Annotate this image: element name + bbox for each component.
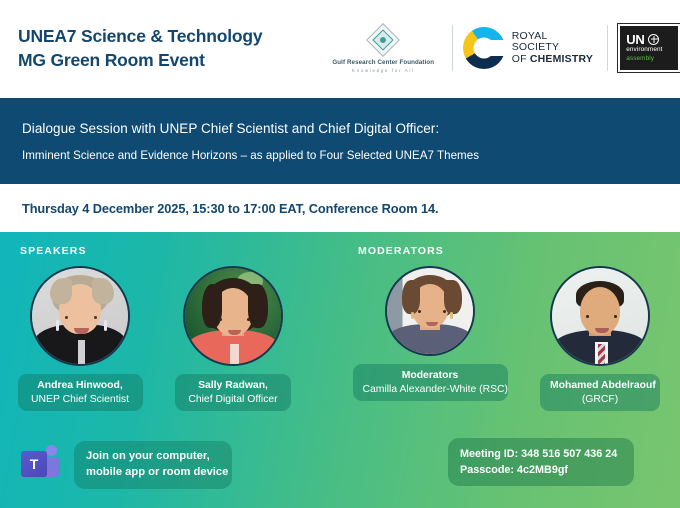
rsc-logo-wordmark: ROYAL SOCIETY OF CHEMISTRY [512, 31, 598, 65]
join-instructions-chip: Join on your computer, mobile app or roo… [74, 441, 232, 489]
un-environment-assembly-logo: UN environment assembly [618, 24, 680, 72]
person-name-chip: Sally Radwan, Chief Digital Officer [175, 374, 291, 411]
gulf-research-center-logo: Gulf Research Center Foundation Knowledg… [325, 23, 442, 73]
rsc-c-mark-icon [463, 27, 505, 69]
diamond-emblem-icon [366, 23, 400, 57]
person-card: Sally Radwan, Chief Digital Officer [158, 266, 308, 411]
rsc-line-2-light: OF [512, 53, 530, 65]
person-name: Andrea Hinwood, [28, 379, 133, 393]
rsc-line-2: OF CHEMISTRY [512, 54, 598, 65]
avatar [385, 266, 475, 356]
title-line-1: UNEA7 Science & Technology [18, 24, 317, 48]
logo-divider-1 [452, 25, 453, 71]
speakers-section-label: SPEAKERS [20, 245, 87, 257]
person-card: Andrea Hinwood, UNEP Chief Scientist [5, 266, 155, 411]
session-title: Dialogue Session with UNEP Chief Scienti… [22, 121, 658, 136]
person-role: Chief Digital Officer [185, 393, 281, 407]
grc-logo-name: Gulf Research Center Foundation [332, 59, 434, 66]
join-line-1: Join on your computer, [86, 449, 220, 465]
person-name-chip: Mohamed Abdelraouf (GRCF) [540, 374, 660, 411]
person-name-chip: Moderators Camilla Alexander-White (RSC) [353, 364, 508, 401]
meeting-passcode: Passcode: 4c2MB9gf [460, 462, 622, 478]
teams-letter: T [30, 457, 39, 471]
person-role: (GRCF) [550, 393, 650, 407]
person-name: Sally Radwan, [185, 379, 281, 393]
avatar [30, 266, 130, 366]
person-role: UNEP Chief Scientist [28, 393, 133, 407]
logo-strip: Gulf Research Center Foundation Knowledg… [325, 23, 680, 73]
person-name: Moderators [363, 369, 498, 383]
rsc-line-1: ROYAL SOCIETY [512, 31, 598, 54]
person-name-chip: Andrea Hinwood, UNEP Chief Scientist [18, 374, 143, 411]
page-title: UNEA7 Science & Technology MG Green Room… [18, 24, 317, 72]
join-line-2: mobile app or room device [86, 465, 220, 481]
session-subtitle: Imminent Science and Evidence Horizons –… [22, 149, 658, 162]
meeting-id: Meeting ID: 348 516 507 436 24 [460, 446, 622, 462]
person-name: Mohamed Abdelraouf [550, 379, 650, 393]
moderators-section-label: MODERATORS [358, 245, 444, 257]
logo-divider-2 [607, 25, 608, 71]
session-banner: Dialogue Session with UNEP Chief Scienti… [0, 98, 680, 184]
meeting-credentials-chip: Meeting ID: 348 516 507 436 24 Passcode:… [448, 438, 634, 486]
royal-society-of-chemistry-logo: ROYAL SOCIETY OF CHEMISTRY [463, 27, 597, 69]
person-card: Mohamed Abdelraouf (GRCF) [525, 266, 675, 411]
person-card: Moderators Camilla Alexander-White (RSC) [355, 266, 505, 401]
rsc-line-2-bold: CHEMISTRY [530, 53, 593, 65]
title-line-2: MG Green Room Event [18, 48, 317, 72]
header-bar: UNEA7 Science & Technology MG Green Room… [0, 0, 680, 96]
grc-logo-tagline: Knowledge for All [352, 68, 415, 73]
un-logo-line-3: assembly [626, 55, 672, 64]
un-logo-line-2: environment [626, 46, 672, 55]
avatar [183, 266, 283, 366]
date-time-strip: Thursday 4 December 2025, 15:30 to 17:00… [0, 184, 680, 232]
un-logo-top-row: UN [626, 33, 672, 46]
un-globe-icon [648, 34, 659, 45]
date-time-text: Thursday 4 December 2025, 15:30 to 17:00… [22, 201, 438, 216]
person-role: Camilla Alexander-White (RSC) [363, 383, 498, 397]
un-wordmark: UN [626, 33, 644, 46]
event-flyer: UNEA7 Science & Technology MG Green Room… [0, 0, 680, 508]
avatar [550, 266, 650, 366]
microsoft-teams-icon[interactable]: T [20, 444, 60, 482]
